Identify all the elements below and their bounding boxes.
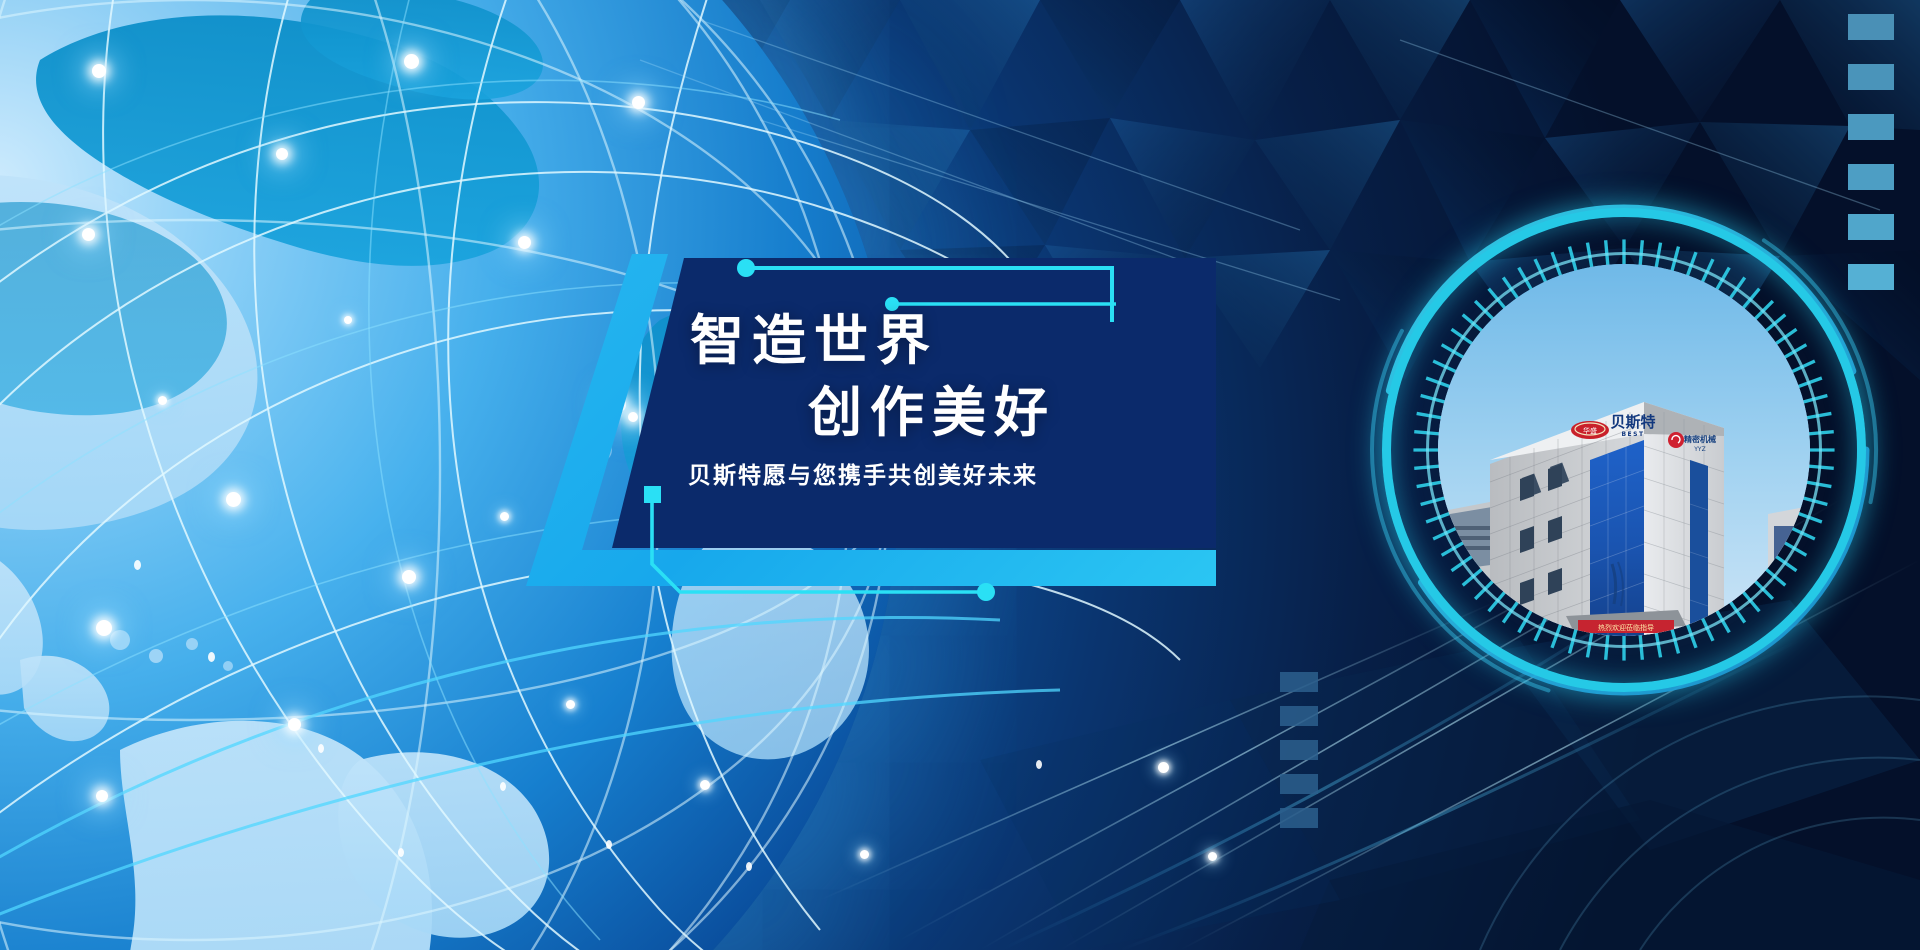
decor-bar [1280, 774, 1318, 794]
decor-bar [1280, 672, 1318, 692]
headline-panel: 智造世界 创作美好 贝斯特愿与您携手共创美好未来 [556, 258, 1216, 658]
headline-line-2: 创作美好 [808, 368, 1056, 447]
building-photo: 华盛 贝斯特 BEST 精密机械 YYZ 热烈欢迎莅临指导 [1438, 264, 1810, 636]
headline-text-block: 智造世界 创作美好 贝斯特愿与您携手共创美好未来 [556, 258, 1216, 548]
svg-text:BEST: BEST [1621, 431, 1644, 438]
headline-subtitle: 贝斯特愿与您携手共创美好未来 [688, 456, 1038, 490]
hero-banner: 华盛 贝斯特 BEST 精密机械 YYZ 热烈欢迎莅临指导 [0, 0, 1920, 950]
decor-bar [1848, 264, 1894, 290]
right-edge-bar-stack [1848, 14, 1894, 314]
svg-text:华盛: 华盛 [1583, 426, 1597, 435]
svg-text:YYZ: YYZ [1693, 446, 1705, 453]
headline-line-1: 智造世界 [690, 296, 938, 375]
decor-bar [1848, 64, 1894, 90]
company-building-medallion: 华盛 贝斯特 BEST 精密机械 YYZ 热烈欢迎莅临指导 [1382, 208, 1866, 692]
decor-bar [1280, 706, 1318, 726]
decor-bar [1280, 740, 1318, 760]
decor-bar [1848, 214, 1894, 240]
svg-text:贝斯特: 贝斯特 [1610, 413, 1655, 431]
decor-bar [1848, 164, 1894, 190]
svg-text:热烈欢迎莅临指导: 热烈欢迎莅临指导 [1598, 623, 1654, 632]
decor-bar [1848, 14, 1894, 40]
decor-bar [1848, 114, 1894, 140]
center-bottom-bar-stack [1280, 672, 1318, 842]
svg-text:精密机械: 精密机械 [1684, 434, 1716, 444]
decor-bar [1280, 808, 1318, 828]
